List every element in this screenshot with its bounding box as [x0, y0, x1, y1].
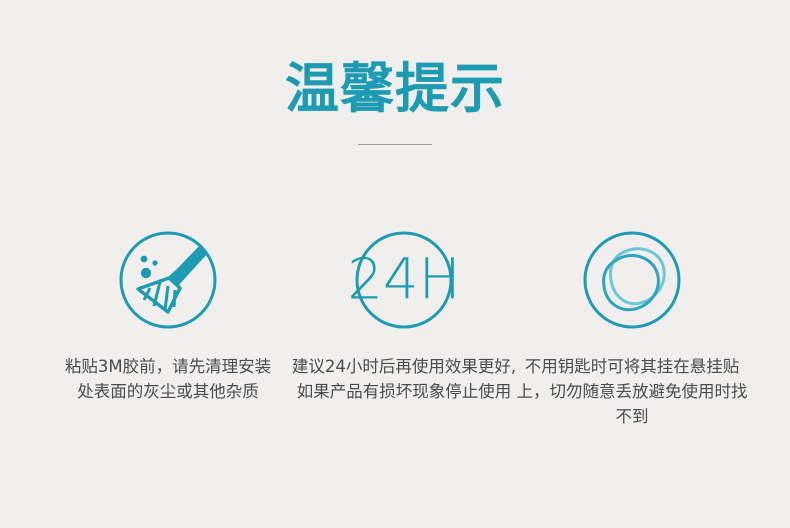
tip-item-2: 24H 建议24小时后再使用效果更好,如果产品有损坏现象停止使用 [286, 228, 522, 429]
page-title-block: 温馨提示 [0, 58, 790, 145]
24h-clock-icon: 24H [352, 228, 456, 332]
page-title: 温馨提示 [0, 58, 790, 120]
tips-page: 温馨提示 [0, 0, 790, 528]
broom-icon [116, 228, 220, 332]
tip-text-1: 粘贴3M胶前，请先清理安装处表面的灰尘或其他杂质 [58, 354, 278, 404]
24h-icon-label: 24H [347, 248, 460, 313]
tip-text-3: 不用钥匙时可将其挂在悬挂贴上，切勿随意丢放避免使用时找不到 [514, 354, 750, 429]
tip-item-3: 不用钥匙时可将其挂在悬挂贴上，切勿随意丢放避免使用时找不到 [514, 228, 750, 429]
tips-columns: 粘贴3M胶前，请先清理安装处表面的灰尘或其他杂质 24H 建议24小时后再使用效… [0, 228, 790, 429]
tip-text-2: 建议24小时后再使用效果更好,如果产品有损坏现象停止使用 [286, 354, 522, 404]
hanging-keys-icon [580, 228, 684, 332]
title-divider [358, 144, 432, 145]
tip-item-1: 粘贴3M胶前，请先清理安装处表面的灰尘或其他杂质 [50, 228, 286, 429]
